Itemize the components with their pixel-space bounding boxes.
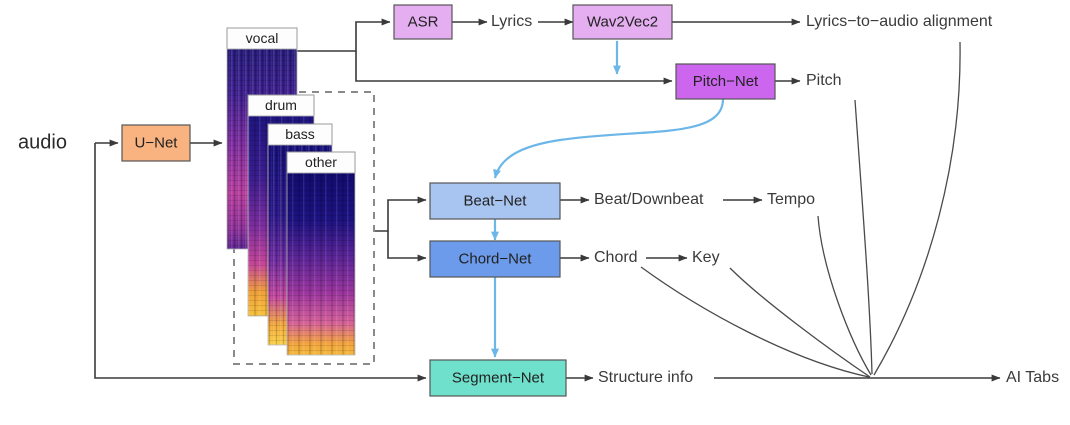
spectrogram-card-label: bass xyxy=(285,126,315,142)
node-label: U−Net xyxy=(135,134,179,151)
spectrogram-card-other: other xyxy=(287,152,355,355)
node-label: ASR xyxy=(408,13,439,30)
node-beatnet[interactable]: Beat−Net xyxy=(430,183,560,219)
output-label-ai-tabs: AI Tabs xyxy=(1006,369,1059,386)
output-label-alignment: Lyrics−to−audio alignment xyxy=(806,13,993,30)
edge-pitchnet-to-beatnet xyxy=(495,99,723,178)
node-label: Segment−Net xyxy=(452,369,545,386)
edge-stems-branch xyxy=(374,200,426,258)
output-label-key: Key xyxy=(692,249,720,266)
node-unet[interactable]: U−Net xyxy=(122,125,190,161)
node-label: Pitch−Net xyxy=(693,73,759,90)
node-label: Beat−Net xyxy=(464,192,528,209)
output-label-pitch: Pitch xyxy=(806,72,842,89)
spectrogram-card-label: drum xyxy=(265,97,297,113)
node-label: Chord−Net xyxy=(459,250,533,267)
pipeline-diagram: vocal drum bass other audio U−Net xyxy=(0,0,1070,425)
node-pitchnet[interactable]: Pitch−Net xyxy=(676,64,775,99)
node-label: Wav2Vec2 xyxy=(587,13,658,30)
input-label-audio: audio xyxy=(18,131,67,153)
spectrogram-card-label: other xyxy=(305,154,337,170)
output-label-beat-downbeat: Beat/Downbeat xyxy=(594,191,704,208)
node-wav2vec2[interactable]: Wav2Vec2 xyxy=(573,5,672,39)
output-label-chord: Chord xyxy=(594,249,638,266)
output-label-lyrics: Lyrics xyxy=(491,13,532,30)
node-asr[interactable]: ASR xyxy=(394,5,452,39)
output-label-tempo: Tempo xyxy=(767,191,815,208)
spectrogram-card-label: vocal xyxy=(246,30,279,46)
node-chordnet[interactable]: Chord−Net xyxy=(430,241,560,277)
node-segmentnet[interactable]: Segment−Net xyxy=(430,360,566,396)
output-label-structure-info: Structure info xyxy=(598,369,693,386)
